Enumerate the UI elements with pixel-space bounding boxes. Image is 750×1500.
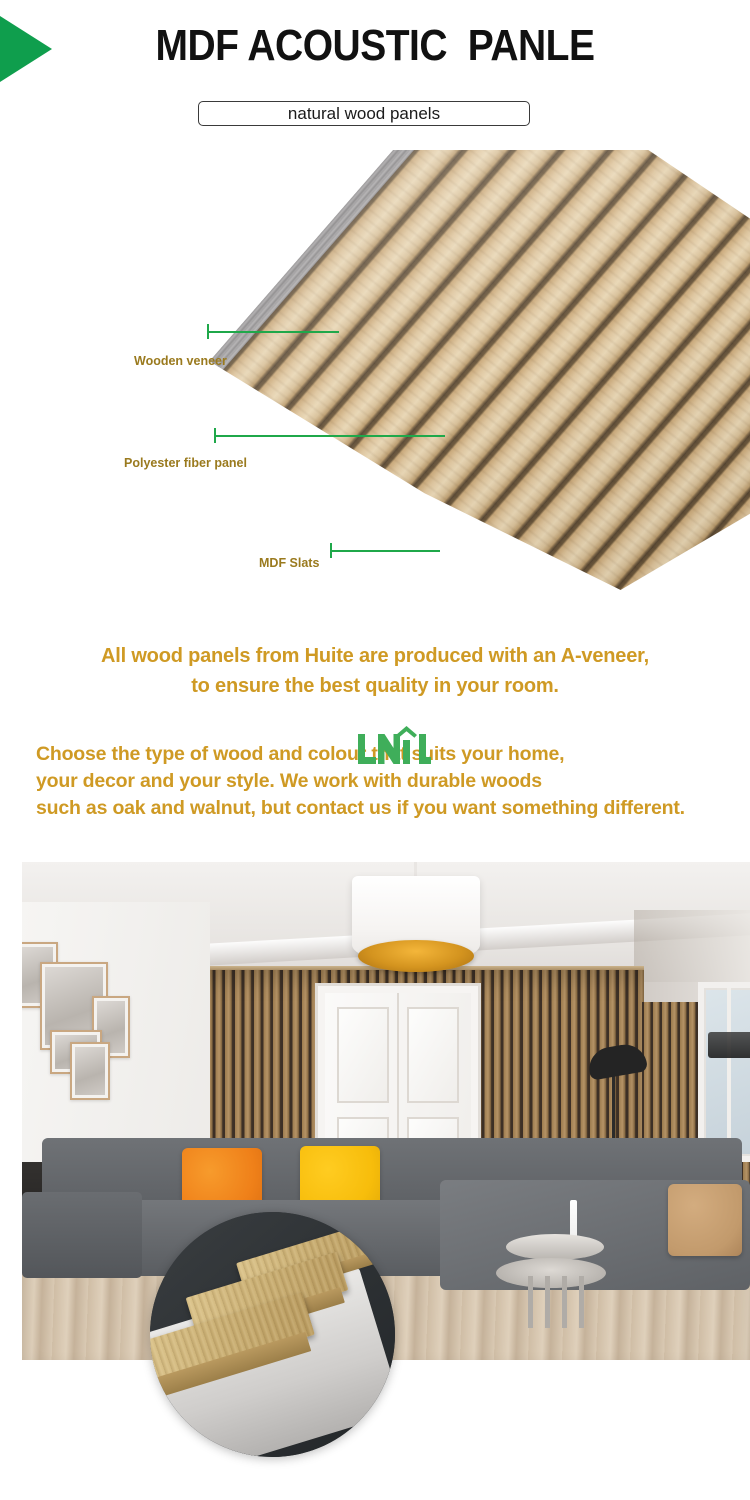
copy-block2-line2: your decor and your style. We work with … <box>36 768 746 795</box>
callout-label-wooden-veneer: Wooden veneer <box>134 354 227 368</box>
slat-closeup-inset <box>150 1212 395 1457</box>
subtitle-text: natural wood panels <box>288 105 440 122</box>
product-detail-page: MDF ACOUSTIC PANLE natural wood panels W… <box>0 0 750 1500</box>
subtitle-badge: natural wood panels <box>198 101 530 126</box>
product-diagram: Wooden veneer Polyester fiber panel MDF … <box>0 150 750 610</box>
copy-block1-line2: to ensure the best quality in your room. <box>0 671 750 701</box>
copy-block2-line3: such as oak and walnut, but contact us i… <box>36 795 746 822</box>
copy-block2-line1: Choose the type of wood and colour that … <box>36 741 746 768</box>
slat-panel-image <box>195 150 750 590</box>
marketing-copy-block-2: Choose the type of wood and colour that … <box>36 741 746 822</box>
pendant-lamp-gold-interior <box>358 940 474 972</box>
tan-cushion <box>668 1184 742 1256</box>
leader-line-mdf-slats <box>330 550 440 552</box>
callout-label-polyester-fiber-panel: Polyester fiber panel <box>124 456 247 470</box>
leader-line-wooden-veneer <box>207 331 339 333</box>
marketing-copy-block-1: All wood panels from Huite are produced … <box>0 641 750 701</box>
sofa-arm <box>22 1192 142 1278</box>
window-sill-decor <box>708 1032 750 1058</box>
picture-frame <box>70 1042 110 1100</box>
side-table-upper-top <box>506 1234 604 1260</box>
door-panel <box>337 1007 389 1103</box>
page-header: MDF ACOUSTIC PANLE natural wood panels <box>0 0 750 140</box>
panel-light-sheen <box>195 150 750 590</box>
page-title: MDF ACOUSTIC PANLE <box>0 22 750 71</box>
slat-panel-geometry <box>195 150 750 590</box>
door-panel <box>407 1007 459 1103</box>
side-table-legs <box>516 1276 588 1328</box>
callout-label-mdf-slats: MDF Slats <box>259 556 319 570</box>
copy-block1-line1: All wood panels from Huite are produced … <box>0 641 750 671</box>
leader-line-polyester-fiber-panel <box>214 435 445 437</box>
window <box>698 982 750 1162</box>
